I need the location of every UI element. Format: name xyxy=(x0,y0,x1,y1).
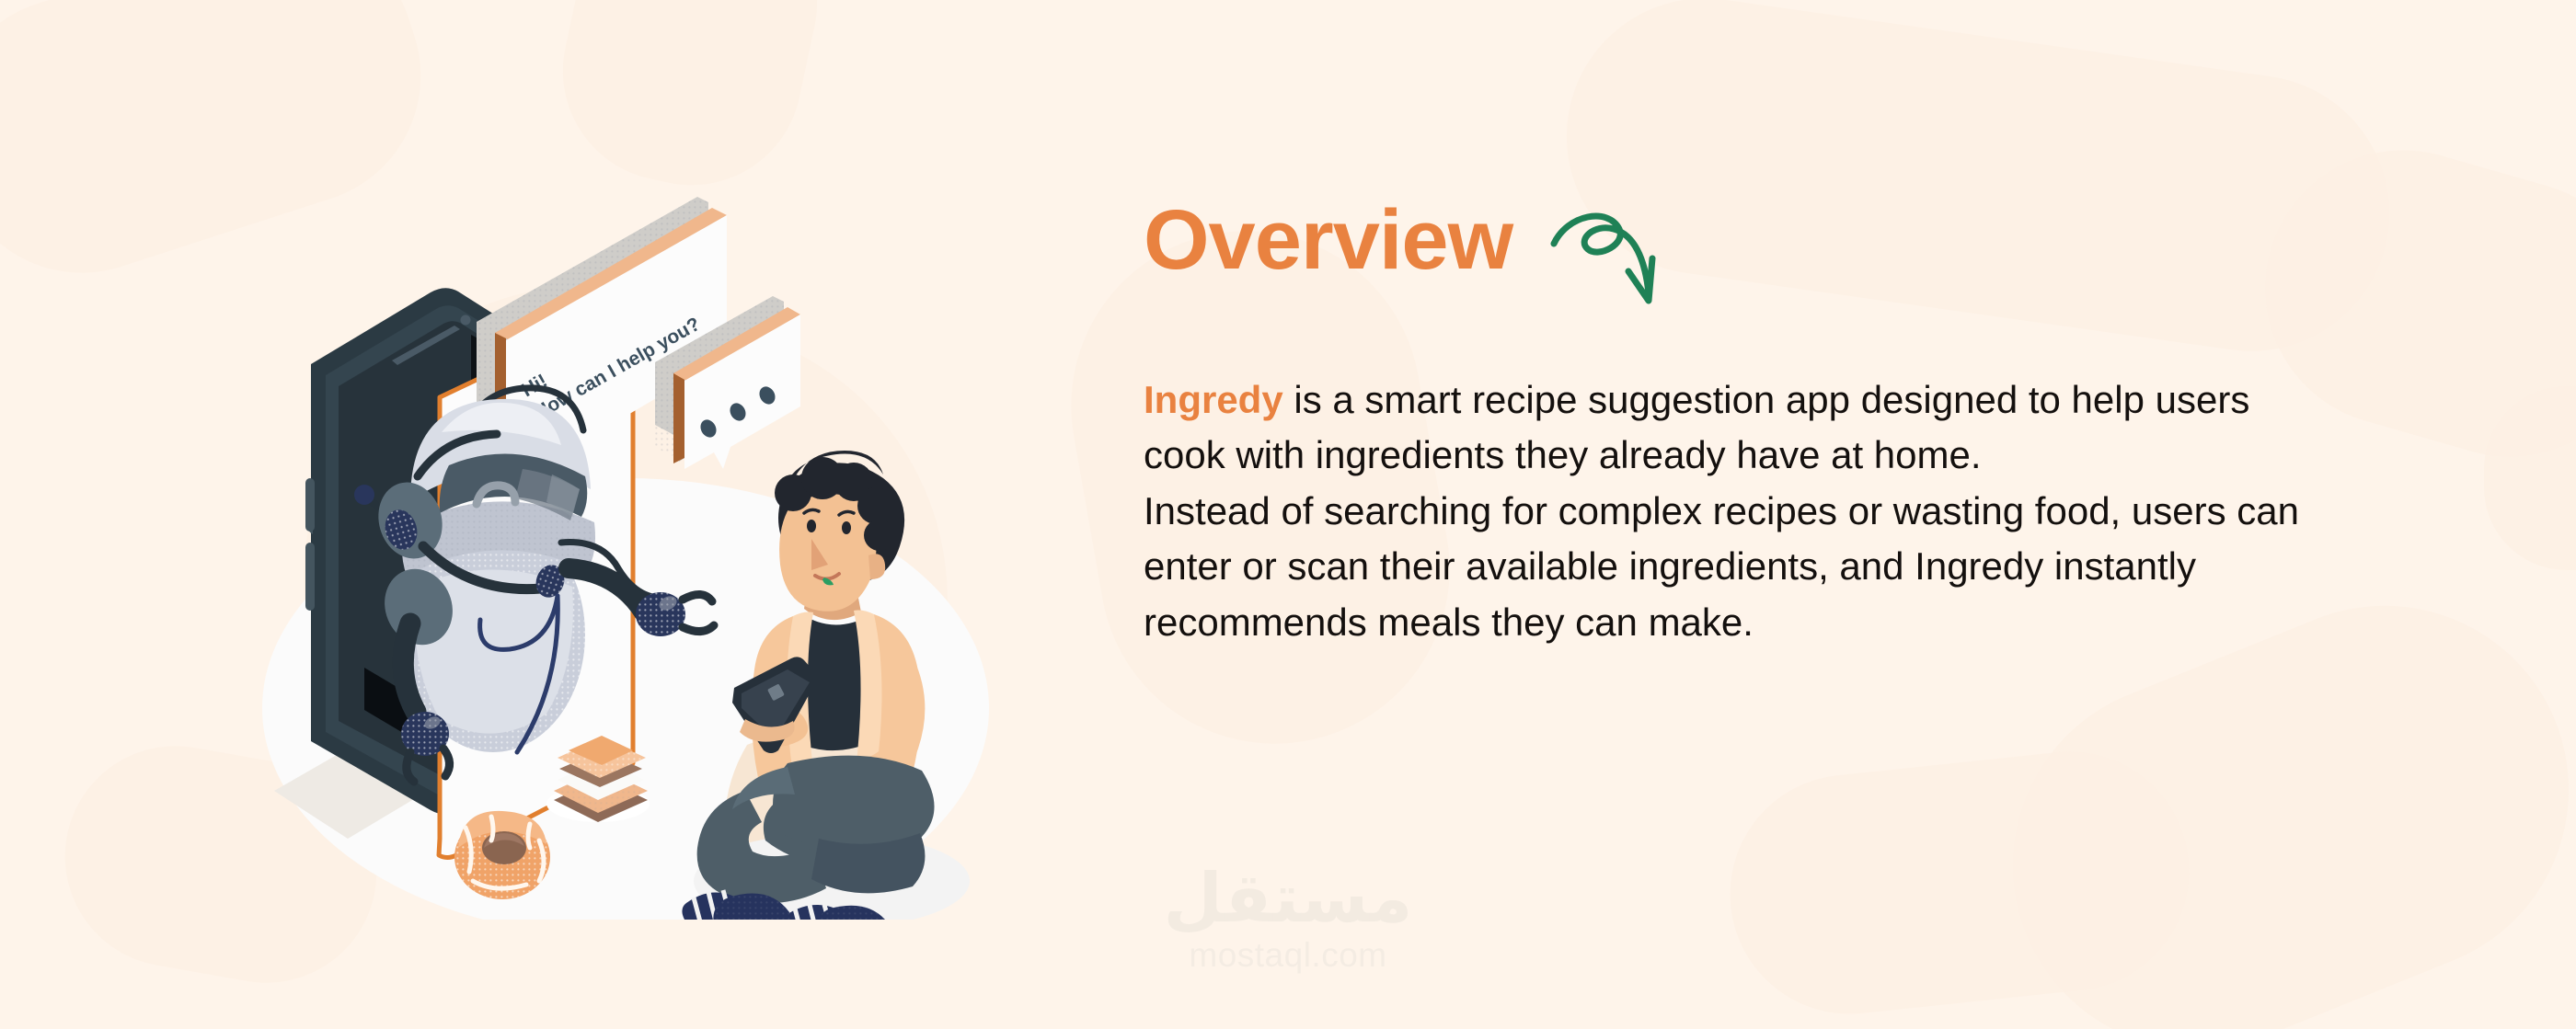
paragraph-2: Instead of searching for complex recipes… xyxy=(1144,484,2340,650)
overview-section: Overview Ingredy is a smart recipe sugge… xyxy=(1144,198,2450,650)
paragraph-1: Ingredy is a smart recipe suggestion app… xyxy=(1144,372,2340,484)
page-title: Overview xyxy=(1144,198,1512,282)
mostaql-watermark: مستقل mostaql.com xyxy=(1132,864,1444,975)
donut xyxy=(454,811,550,899)
overview-body: Ingredy is a smart recipe suggestion app… xyxy=(1144,372,2340,650)
slide-canvas: Hi! How can I help you? xyxy=(0,0,2576,1029)
curly-arrow-down-right-icon xyxy=(1549,201,1660,312)
title-row: Overview xyxy=(1144,198,2450,312)
chatbot-assistant-illustration: Hi! How can I help you? xyxy=(230,156,1003,920)
paragraph-1-rest: is a smart recipe suggestion app designe… xyxy=(1144,378,2249,476)
watermark-url: mostaql.com xyxy=(1132,936,1444,975)
background-blob xyxy=(2484,386,2576,570)
background-blob xyxy=(1719,740,2201,1026)
watermark-arabic: مستقل xyxy=(1132,864,1444,932)
brand-name: Ingredy xyxy=(1144,378,1283,421)
